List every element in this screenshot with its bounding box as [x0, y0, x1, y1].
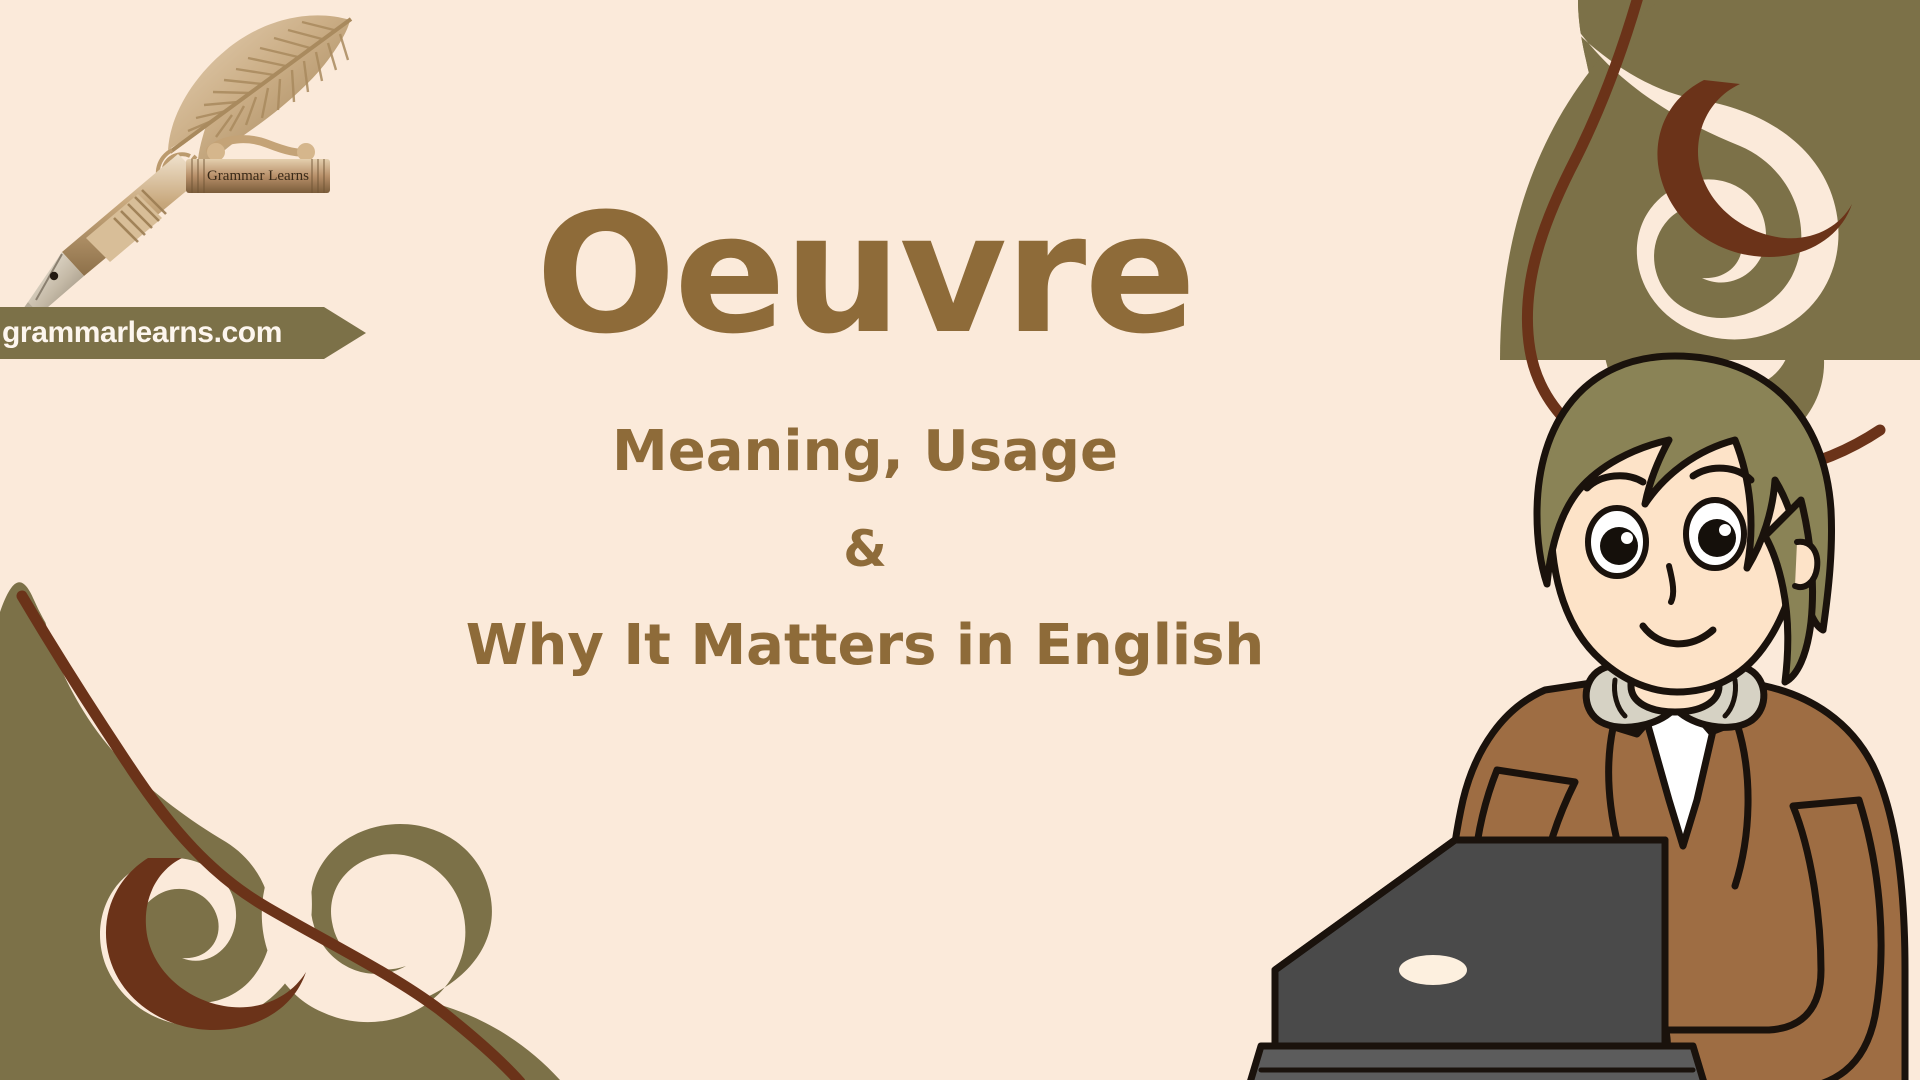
subtitle-ampersand: &	[330, 524, 1400, 574]
pupil-right	[1698, 519, 1736, 557]
person-typing-illustration	[1245, 330, 1920, 1080]
page-title: Oeuvre	[330, 190, 1400, 358]
banner-canvas: Grammar Learns grammarlearns.com Oeuvre …	[0, 0, 1920, 1080]
subtitle-line-2: Why It Matters in English	[330, 618, 1400, 674]
quill-pen-icon: Grammar Learns	[10, 4, 370, 324]
pen-engraving-text: Grammar Learns	[207, 168, 309, 184]
nose	[1669, 566, 1673, 602]
site-url-ribbon[interactable]: grammarlearns.com	[0, 307, 366, 359]
ear	[1795, 542, 1817, 587]
pupil-left	[1600, 527, 1638, 565]
pen-nameplate: Grammar Learns	[186, 139, 330, 193]
pen-body	[18, 154, 202, 316]
headline-block: Oeuvre Meaning, Usage & Why It Matters i…	[330, 190, 1400, 674]
site-url-label: grammarlearns.com	[2, 307, 282, 359]
laptop-icon	[1249, 840, 1705, 1080]
laptop-logo	[1399, 955, 1467, 985]
subtitle-line-1: Meaning, Usage	[330, 424, 1400, 480]
